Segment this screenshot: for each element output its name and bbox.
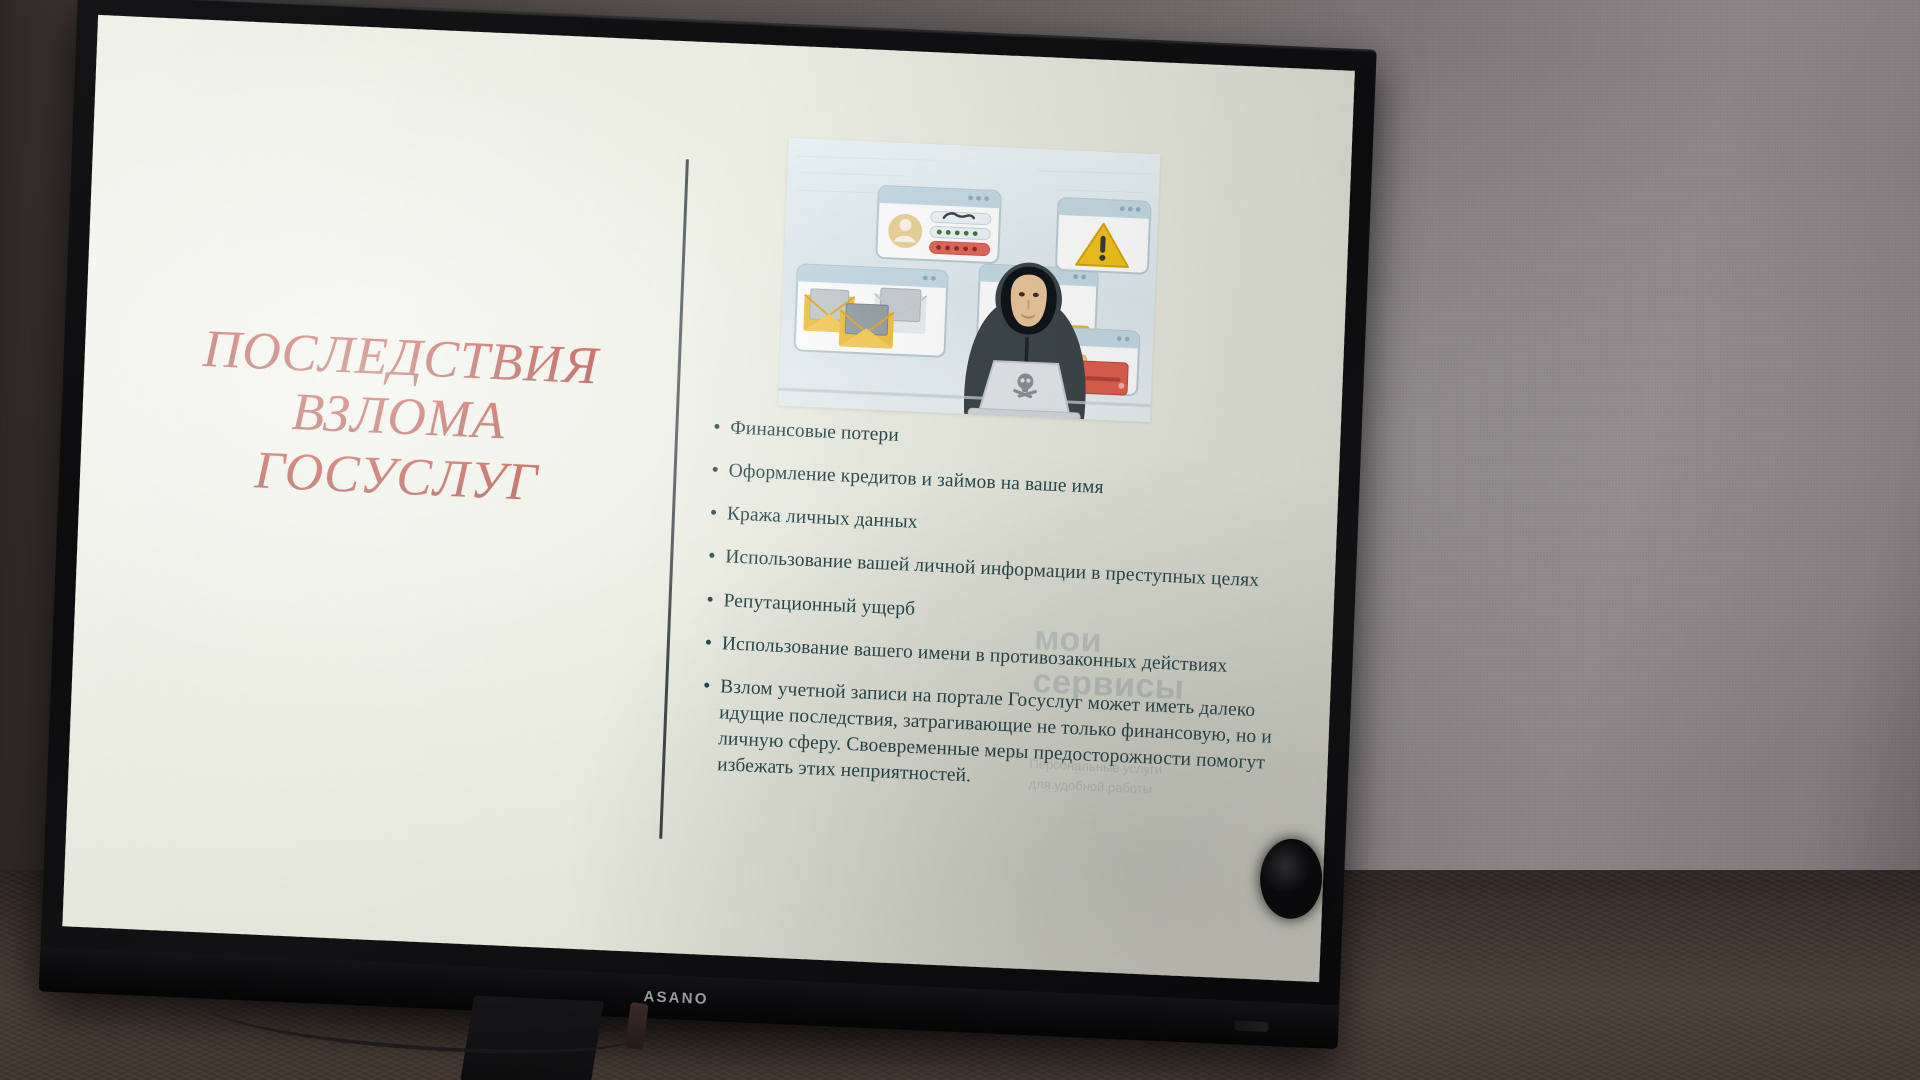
bullet-item: Финансовые потери xyxy=(714,415,1314,468)
bullet-dot-icon xyxy=(706,639,711,644)
bullet-text: Оформление кредитов и займов на ваше имя xyxy=(728,459,1104,502)
bullet-item: Использование вашего имени в противозако… xyxy=(705,630,1305,683)
email-window xyxy=(794,264,947,357)
bullet-dot-icon xyxy=(711,510,716,515)
bullet-dot-icon xyxy=(709,553,714,558)
bullet-dot-icon xyxy=(713,467,718,472)
ir-receiver xyxy=(1234,1020,1268,1032)
bullet-item: Использование вашей личной информации в … xyxy=(709,544,1309,597)
bullet-item: Взлом учетной записи на портале Госуслуг… xyxy=(701,673,1305,804)
slide-title: ПОСЛЕДСТВИЯ ВЗЛОМА ГОСУСЛУГ xyxy=(135,317,661,518)
bullet-item: Оформление кредитов и займов на ваше имя xyxy=(712,458,1312,511)
bullet-dot-icon xyxy=(714,424,719,429)
login-window xyxy=(876,186,1001,263)
bullet-text: Взлом учетной записи на портале Госуслуг… xyxy=(717,674,1305,804)
presentation-slide: мои сервисы Персональные услуги для удоб… xyxy=(62,15,1355,982)
slide-divider xyxy=(659,159,689,839)
bullet-text: Репутационный ущерб xyxy=(723,588,916,623)
bullet-text: Использование вашего имени в противозако… xyxy=(721,631,1227,680)
bullet-text: Использование вашей личной информации в … xyxy=(725,545,1260,595)
bullet-text: Финансовые потери xyxy=(730,415,899,449)
tv-brand-logo: ASANO xyxy=(643,988,709,1008)
bullet-text: Кража личных данных xyxy=(726,502,918,537)
bullet-list: Финансовые потери Оформление кредитов и … xyxy=(700,415,1314,822)
television: мои сервисы Персональные услуги для удоб… xyxy=(39,0,1377,1049)
tv-screen: мои сервисы Персональные услуги для удоб… xyxy=(62,15,1355,982)
hacker-illustration xyxy=(778,138,1160,422)
warning-window xyxy=(1056,198,1151,274)
bullet-item: Кража личных данных xyxy=(710,501,1310,554)
bullet-item: Репутационный ущерб xyxy=(707,587,1307,640)
bullet-dot-icon xyxy=(704,682,709,687)
bullet-dot-icon xyxy=(708,596,713,601)
room-scene: мои сервисы Персональные услуги для удоб… xyxy=(0,0,1920,1080)
